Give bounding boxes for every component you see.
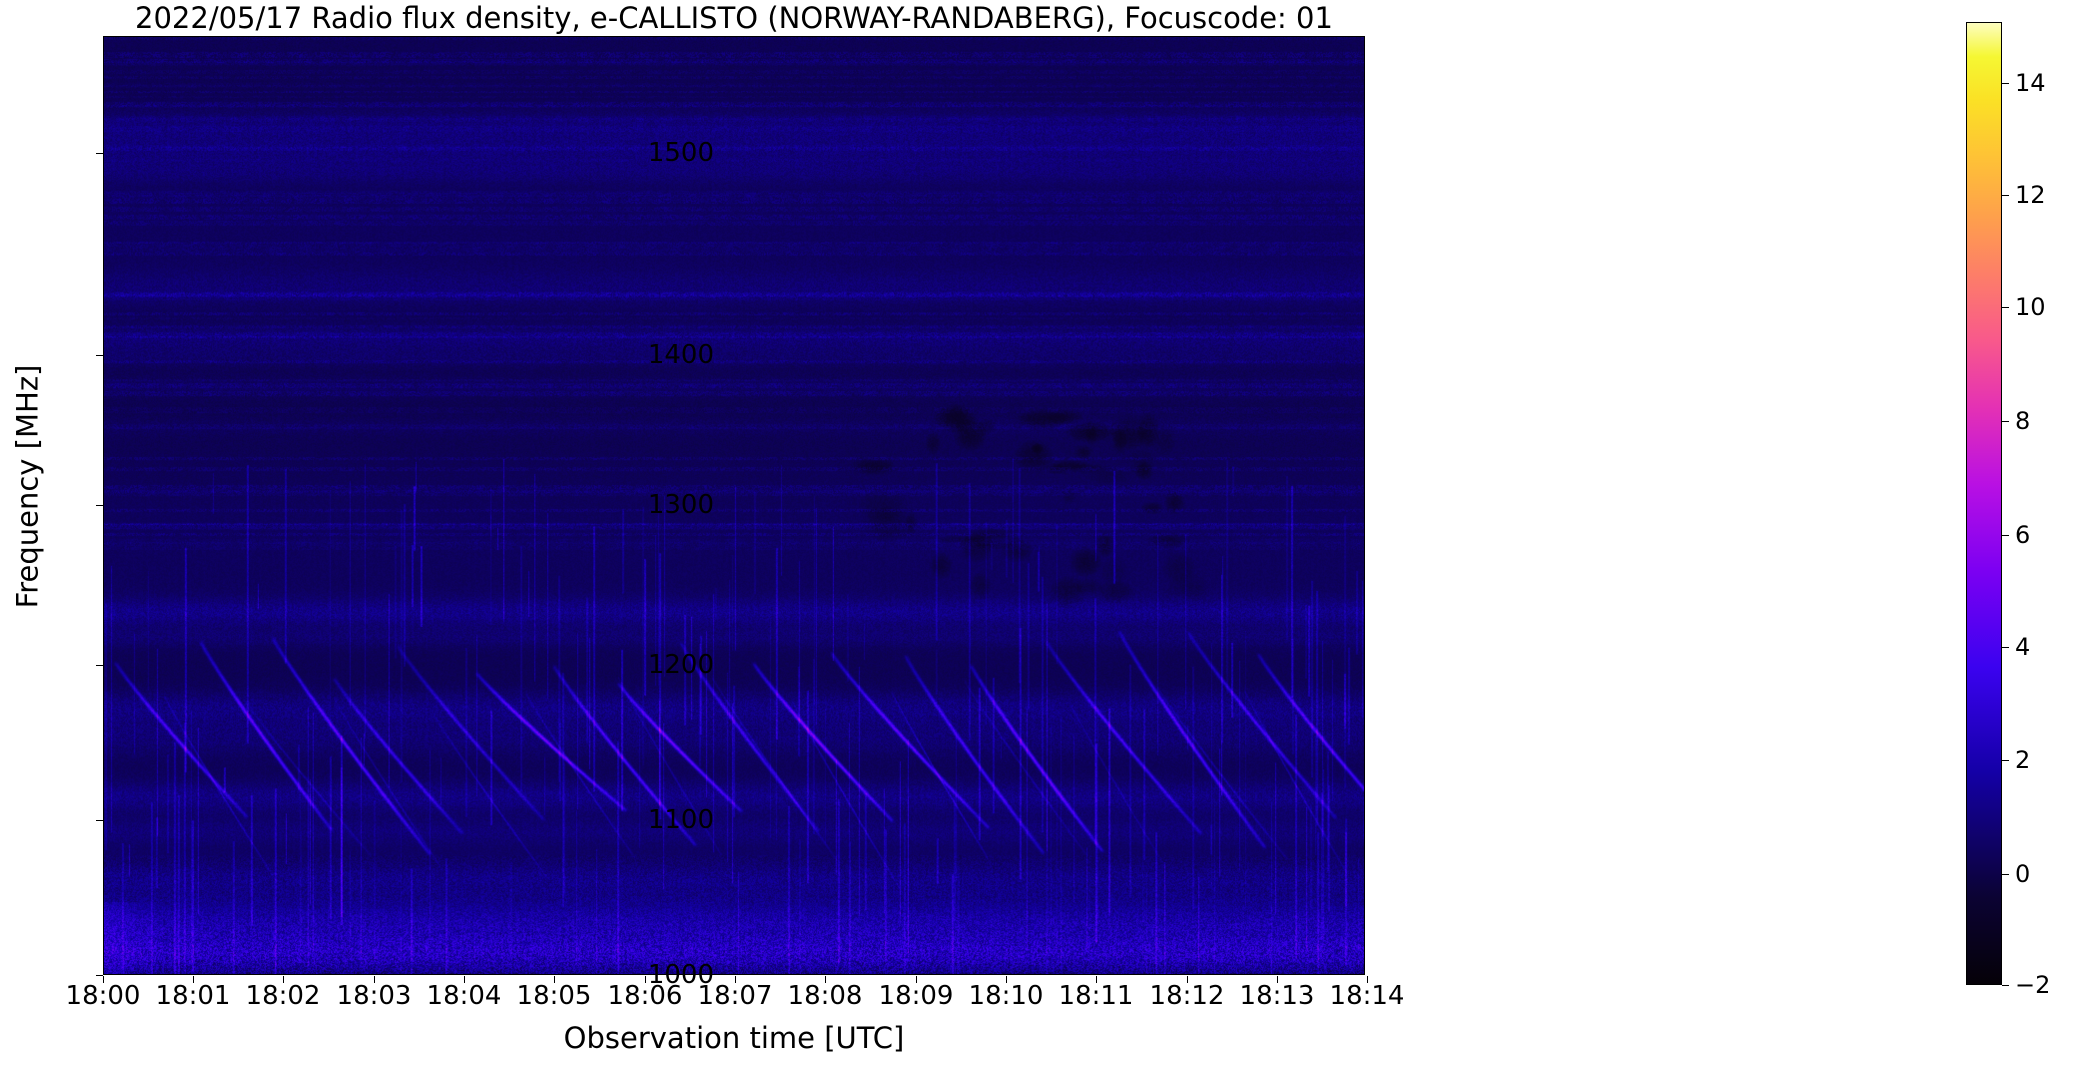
x-tick-mark xyxy=(735,976,736,983)
x-tick-label: 18:07 xyxy=(698,983,773,1009)
x-tick-mark xyxy=(103,976,104,983)
colorbar-tick-mark xyxy=(2002,647,2009,648)
x-tick-mark xyxy=(283,976,284,983)
x-tick-label: 18:06 xyxy=(608,983,683,1009)
spectrogram-axes xyxy=(103,36,1365,975)
x-tick-mark xyxy=(825,976,826,983)
colorbar-tick-label: 4 xyxy=(2015,635,2030,659)
y-tick-label: 1300 xyxy=(594,492,714,518)
colorbar-tick-mark xyxy=(2002,421,2009,422)
x-tick-label: 18:03 xyxy=(337,983,412,1009)
x-tick-label: 18:01 xyxy=(156,983,231,1009)
y-tick-mark xyxy=(96,665,103,666)
colorbar-tick-label: −2 xyxy=(2015,973,2050,997)
colorbar-tick-mark xyxy=(2002,195,2009,196)
y-tick-label: 1500 xyxy=(594,140,714,166)
x-tick-mark xyxy=(464,976,465,983)
x-tick-label: 18:13 xyxy=(1240,983,1315,1009)
colorbar-tick-label: 12 xyxy=(2015,183,2046,207)
colorbar-tick-mark xyxy=(2002,535,2009,536)
y-tick-mark xyxy=(96,820,103,821)
x-tick-mark xyxy=(193,976,194,983)
x-tick-mark xyxy=(1277,976,1278,983)
x-tick-mark xyxy=(374,976,375,983)
x-tick-label: 18:12 xyxy=(1150,983,1225,1009)
y-tick-mark xyxy=(96,153,103,154)
y-tick-mark xyxy=(96,355,103,356)
x-tick-label: 18:14 xyxy=(1330,983,1405,1009)
colorbar-tick-label: 6 xyxy=(2015,523,2030,547)
x-tick-mark xyxy=(554,976,555,983)
colorbar-tick-label: 0 xyxy=(2015,862,2030,886)
colorbar-tick-label: 8 xyxy=(2015,409,2030,433)
y-tick-label: 1100 xyxy=(594,807,714,833)
x-tick-label: 18:09 xyxy=(879,983,954,1009)
y-tick-mark xyxy=(96,505,103,506)
spectrogram-image xyxy=(104,37,1364,974)
x-tick-label: 18:04 xyxy=(427,983,502,1009)
colorbar-tick-label: 10 xyxy=(2015,295,2046,319)
x-tick-mark xyxy=(1096,976,1097,983)
x-tick-label: 18:00 xyxy=(66,983,141,1009)
y-tick-label: 1400 xyxy=(594,342,714,368)
colorbar-tick-mark xyxy=(2002,83,2009,84)
x-tick-mark xyxy=(645,976,646,983)
colorbar-tick-mark xyxy=(2002,874,2009,875)
figure-title: 2022/05/17 Radio flux density, e-CALLIST… xyxy=(103,2,1365,34)
colorbar-tick-label: 14 xyxy=(2015,71,2046,95)
x-tick-label: 18:05 xyxy=(517,983,592,1009)
x-tick-mark xyxy=(1006,976,1007,983)
colorbar xyxy=(1966,22,2002,985)
x-tick-label: 18:08 xyxy=(788,983,863,1009)
x-tick-label: 18:10 xyxy=(969,983,1044,1009)
x-axis-label: Observation time [UTC] xyxy=(103,1022,1365,1054)
y-tick-mark xyxy=(96,975,103,976)
colorbar-tick-label: 2 xyxy=(2015,748,2030,772)
x-tick-label: 18:11 xyxy=(1059,983,1134,1009)
y-axis-label: Frequency [MHz] xyxy=(14,237,43,737)
x-tick-label: 18:02 xyxy=(246,983,321,1009)
y-tick-label: 1200 xyxy=(594,652,714,678)
colorbar-tick-mark xyxy=(2002,985,2009,986)
x-tick-mark xyxy=(916,976,917,983)
colorbar-tick-mark xyxy=(2002,760,2009,761)
colorbar-tick-mark xyxy=(2002,307,2009,308)
x-tick-mark xyxy=(1187,976,1188,983)
x-tick-mark xyxy=(1367,976,1368,983)
